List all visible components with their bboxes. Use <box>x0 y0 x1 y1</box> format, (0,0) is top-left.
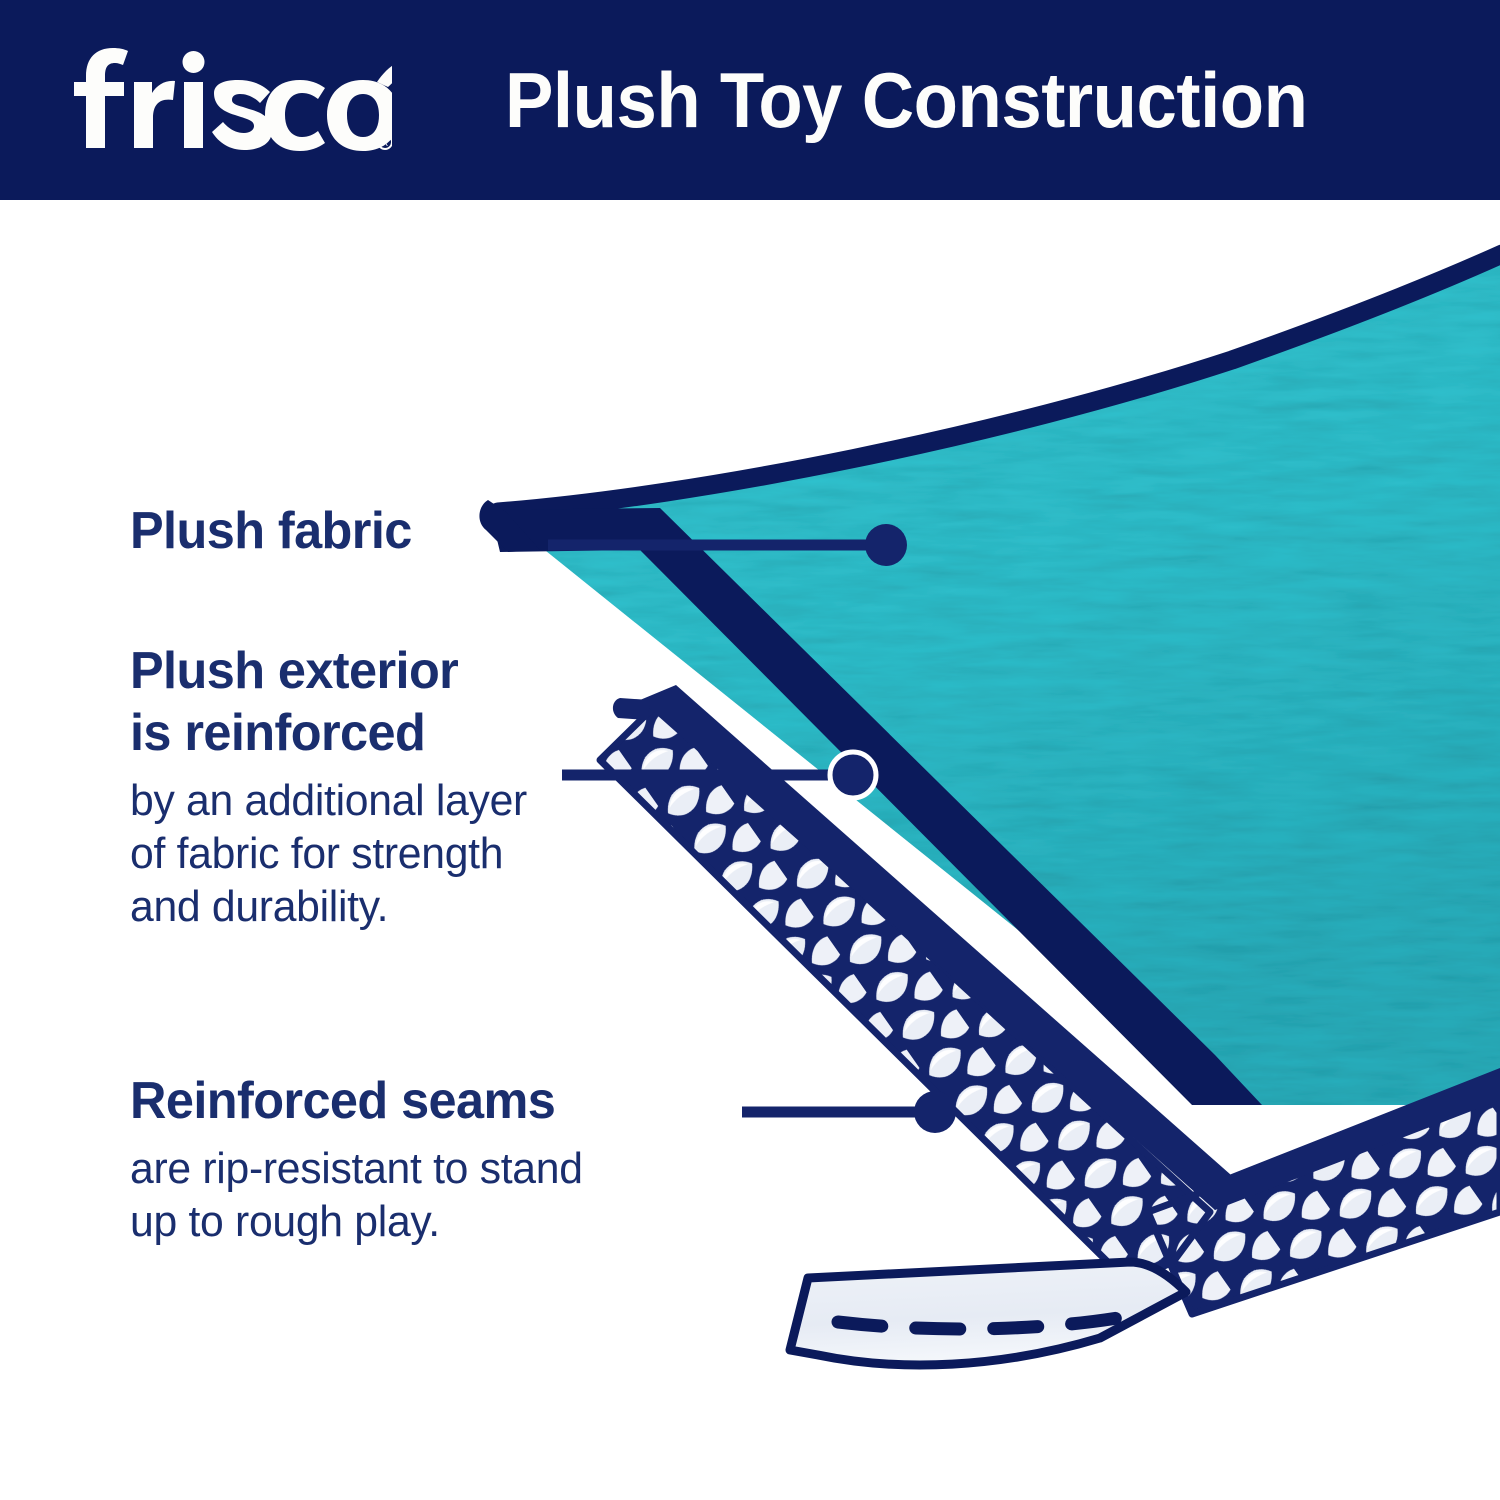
callout-labels: Plush fabric Plush exterior is reinforce… <box>0 200 1500 1500</box>
callout-reinforced-seams: Reinforced seams are rip-resistant to st… <box>130 1070 597 1248</box>
callout-plush-exterior-heading: Plush exterior is reinforced <box>130 640 527 764</box>
callout-plush-exterior-body: by an additional layer of fabric for str… <box>130 774 527 933</box>
svg-text:R: R <box>382 138 389 148</box>
callout-plush-exterior: Plush exterior is reinforced by an addit… <box>130 640 539 933</box>
frisco-logo: R <box>72 44 392 156</box>
callout-plush-fabric-heading: Plush fabric <box>130 500 412 562</box>
callout-plush-fabric: Plush fabric <box>130 500 420 562</box>
callout-reinforced-seams-heading: Reinforced seams <box>130 1070 583 1132</box>
page-title: Plush Toy Construction <box>505 50 1307 150</box>
callout-reinforced-seams-body: are rip-resistant to stand up to rough p… <box>130 1142 583 1248</box>
infographic-page: R Plush Toy Construction <box>0 0 1500 1500</box>
header-bar: R Plush Toy Construction <box>0 0 1500 200</box>
